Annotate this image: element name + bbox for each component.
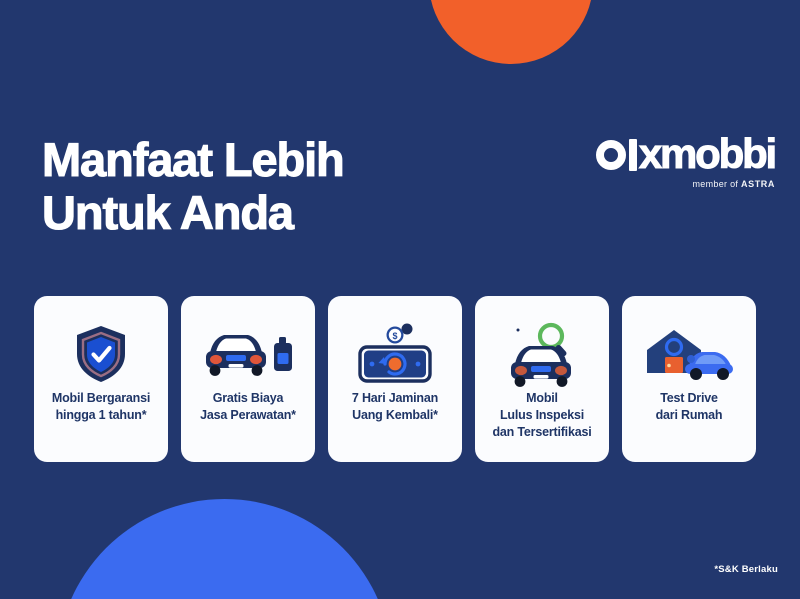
decorative-orange-circle [429,0,593,64]
logo-tagline-brand: ASTRA [741,179,775,189]
benefit-card-test-drive[interactable]: Test Drive dari Rumah [622,296,756,462]
banknote-coins-icon: $ [348,320,442,388]
benefit-card-label: Gratis Biaya Jasa Perawatan* [194,390,302,462]
brand-logo: xmobbi member of ASTRA [560,133,775,189]
benefit-card-money-back[interactable]: $ 7 Hari Jaminan Uang Kembali* [328,296,462,462]
benefit-card-list: Mobil Bergaransi hingga 1 tahun* [34,296,756,462]
logo-o-icon [596,140,626,170]
poster-canvas: Manfaat Lebih Untuk Anda xmobbi member o… [0,0,800,599]
benefit-card-label: Mobil Bergaransi hingga 1 tahun* [46,390,156,462]
shield-check-icon [74,320,128,388]
terms-footnote: *S&K Berlaku [714,564,778,575]
logo-tagline: member of ASTRA [560,179,775,189]
logo-tagline-prefix: member of [692,179,741,189]
logo-wordmark: xmobbi [560,133,775,175]
logo-bar-icon [629,139,637,171]
decorative-blue-circle [57,499,392,599]
benefit-card-warranty[interactable]: Mobil Bergaransi hingga 1 tahun* [34,296,168,462]
house-car-icon [641,320,737,388]
svg-text:$: $ [392,331,397,341]
benefit-card-label: 7 Hari Jaminan Uang Kembali* [346,390,444,462]
car-magnifier-icon [499,320,585,388]
benefit-card-label: Test Drive dari Rumah [650,390,729,462]
benefit-card-inspection[interactable]: Mobil Lulus Inspeksi dan Tersertifikasi [475,296,609,462]
logo-text: xmobbi [639,133,775,175]
car-oil-jug-icon [200,320,296,388]
benefit-card-free-service[interactable]: Gratis Biaya Jasa Perawatan* [181,296,315,462]
benefit-card-label: Mobil Lulus Inspeksi dan Tersertifikasi [487,390,598,462]
page-title: Manfaat Lebih Untuk Anda [42,134,344,239]
